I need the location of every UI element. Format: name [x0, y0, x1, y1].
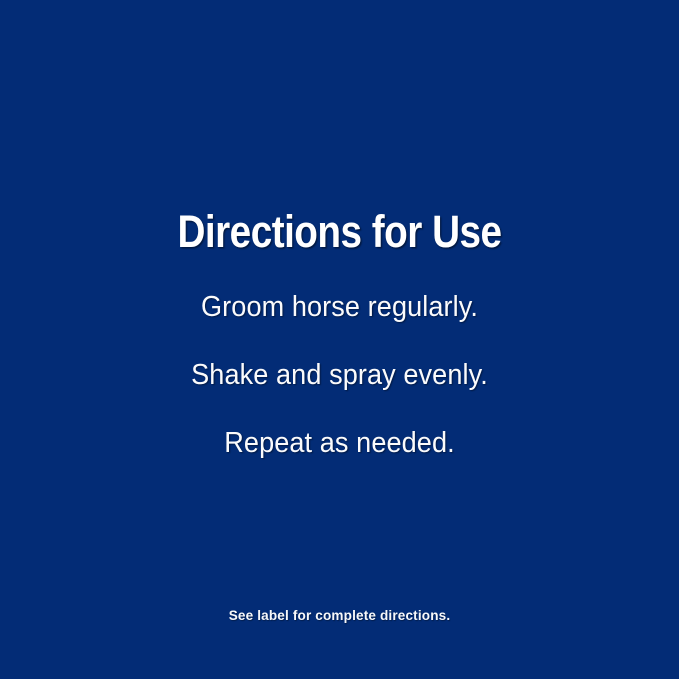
page-title: Directions for Use [48, 207, 632, 257]
direction-step-3: Repeat as needed. [17, 426, 662, 460]
label-disclaimer: See label for complete directions. [10, 606, 669, 624]
direction-step-1: Groom horse regularly. [17, 290, 662, 324]
direction-step-2: Shake and spray evenly. [17, 358, 662, 392]
directions-panel: Directions for Use Groom horse regularly… [0, 0, 679, 679]
